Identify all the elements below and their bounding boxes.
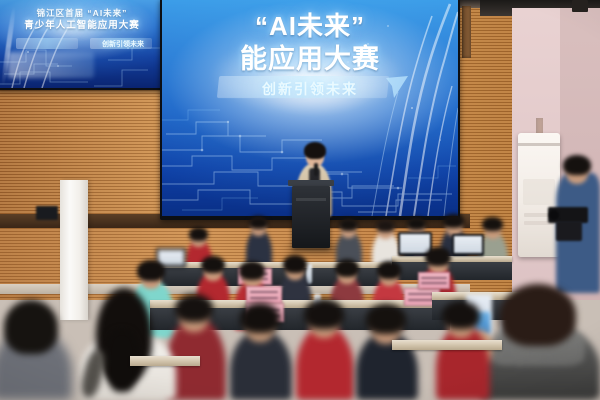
wall-slot-1	[462, 6, 471, 58]
left-screen-subtitle: 创新引领未来	[84, 39, 162, 49]
audience-near-4-hair	[366, 304, 406, 334]
left-screen-title-line2: 青少年人工智能应用大赛	[0, 21, 166, 32]
video-camera-grip	[556, 221, 582, 241]
audience-far-2-hair	[339, 218, 358, 231]
audience-near-red-hair	[442, 301, 480, 329]
audience-mid-6-hair	[425, 247, 451, 266]
air-conditioner-unit[interactable]	[518, 133, 560, 257]
foreground-grey-person-hair	[4, 300, 58, 354]
audience-mid-3-hair	[283, 255, 307, 273]
audience-mid-2-hair	[239, 261, 265, 280]
podium-plaque	[296, 198, 326, 201]
ceiling-fixture	[572, 0, 588, 12]
audience-near-2-hair	[240, 303, 280, 333]
conference-hall-photo: 锦江区首届 “AI未来” 青少年人工智能应用大赛 创新引领未来	[0, 0, 600, 400]
speaker-hair	[304, 142, 326, 159]
audience-far-7-hair	[189, 227, 208, 241]
audience-near-3-hair	[304, 299, 344, 329]
namecard-b4	[418, 272, 450, 289]
audience-mid-teal-hair	[137, 260, 165, 281]
audience-mid-4-hair	[335, 259, 359, 277]
main-screen-title-line2: 能应用大赛	[162, 44, 458, 74]
audience-far-3-hair	[376, 219, 395, 232]
stage-monitor	[36, 206, 58, 220]
main-screen-title-line1: “AI未来”	[162, 12, 458, 41]
left-screen-lower-glow	[8, 52, 94, 78]
audience-mid-5-hair	[377, 261, 401, 279]
main-screen-subtitle: 创新引领未来	[162, 79, 458, 99]
camera-lens-icon	[549, 210, 559, 220]
audience-far-6-hair	[482, 217, 503, 231]
microphone[interactable]	[314, 163, 318, 176]
podium[interactable]	[292, 186, 330, 248]
audience-near-1-hair	[175, 294, 213, 322]
left-screen: 锦江区首届 “AI未来” 青少年人工智能应用大赛 创新引领未来	[0, 0, 166, 88]
foreground-phone-person-hair	[500, 284, 576, 346]
camera-operator-hair	[563, 155, 591, 175]
ac-display-panel	[523, 179, 555, 205]
audience-far-5-hair	[443, 214, 464, 228]
audience-far-1-hair	[249, 216, 268, 229]
desk-monitor-2	[452, 234, 484, 256]
arrow-icon	[384, 74, 410, 100]
audience-mid-1-hair	[201, 256, 225, 273]
column	[60, 180, 88, 320]
audience-far-4-hair	[407, 217, 426, 230]
ac-seam	[518, 143, 560, 146]
desk-row-c-left	[130, 356, 200, 366]
namecard-b1	[246, 286, 282, 304]
left-screen-title-line1: 锦江区首届 “AI未来”	[0, 9, 166, 19]
desk-row-c-right	[392, 340, 502, 350]
